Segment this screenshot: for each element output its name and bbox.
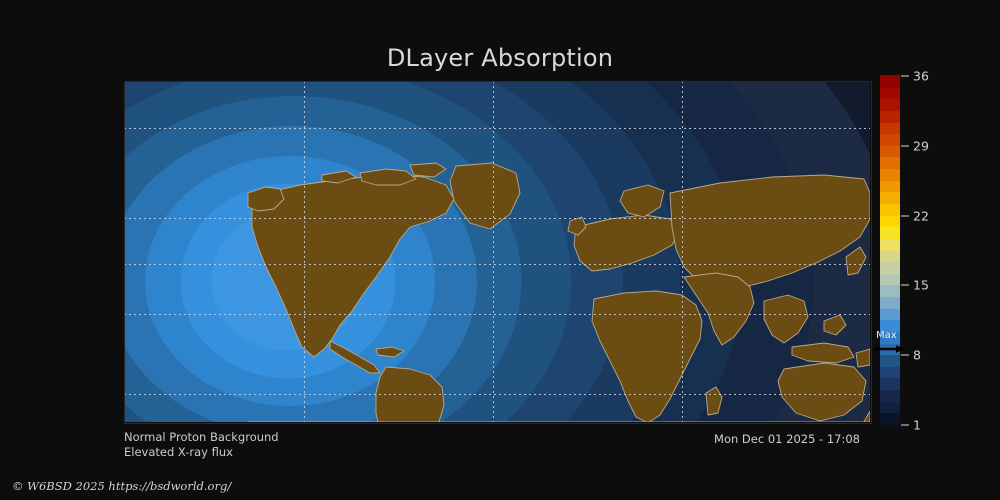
absorption-contours xyxy=(124,81,870,422)
colorbar-segment xyxy=(880,145,900,157)
colorbar-tick: 29 xyxy=(901,138,929,153)
colorbar-segment xyxy=(880,192,900,204)
colorbar-segment xyxy=(880,122,900,134)
colorbar-segment xyxy=(880,285,900,297)
colorbar-segment xyxy=(880,413,900,425)
tick-dash xyxy=(901,285,909,286)
page-title: DLayer Absorption xyxy=(0,44,1000,72)
max-marker: Max xyxy=(874,331,908,357)
gridline-vertical xyxy=(493,81,494,422)
colorbar-tick: 15 xyxy=(901,278,929,293)
colorbar-segment xyxy=(880,215,900,227)
colorbar-segment xyxy=(880,168,900,180)
colorbar-segment xyxy=(880,262,900,274)
colorbar-tick-label: 1 xyxy=(913,418,921,433)
colorbar-segment xyxy=(880,134,900,146)
colorbar-tick-label: 22 xyxy=(913,208,929,223)
colorbar-segment xyxy=(880,401,900,413)
proton-status-text: Normal Proton Background xyxy=(124,430,279,444)
colorbar-segment xyxy=(880,75,900,87)
colorbar-segment xyxy=(880,87,900,99)
world-map xyxy=(124,81,870,422)
colorbar-segment xyxy=(880,110,900,122)
arrow-right-icon xyxy=(874,345,906,353)
colorbar-segment xyxy=(880,238,900,250)
colorbar-axis-label: Affected Frequency (MHz) xyxy=(930,76,1000,425)
colorbar-segment xyxy=(880,366,900,378)
max-marker-label: Max xyxy=(876,331,897,341)
colorbar-tick: 1 xyxy=(901,418,921,433)
colorbar-tick-label: 8 xyxy=(913,348,921,363)
tick-dash xyxy=(901,145,909,146)
colorbar-tick: 22 xyxy=(901,208,929,223)
tick-dash xyxy=(901,215,909,216)
tick-dash xyxy=(901,76,909,77)
colorbar-segment xyxy=(880,390,900,402)
gridline-vertical xyxy=(682,81,683,422)
colorbar-segment xyxy=(880,99,900,111)
colorbar-segment xyxy=(880,227,900,239)
colorbar-tick-label: 36 xyxy=(913,69,929,84)
colorbar-segment xyxy=(880,250,900,262)
gridline-horizontal xyxy=(124,128,870,129)
tick-dash xyxy=(901,425,909,426)
gridline-vertical xyxy=(304,81,305,422)
gridline-horizontal xyxy=(124,218,870,219)
colorbar-segment xyxy=(880,308,900,320)
timestamp-text: Mon Dec 01 2025 - 17:08 xyxy=(714,432,860,446)
colorbar-segment xyxy=(880,180,900,192)
colorbar-segment xyxy=(880,296,900,308)
colorbar-tick-label: 29 xyxy=(913,138,929,153)
gridline-horizontal xyxy=(124,394,870,395)
gridline-horizontal xyxy=(124,314,870,315)
colorbar-tick: 36 xyxy=(901,69,929,84)
colorbar xyxy=(880,76,900,425)
colorbar-tick-label: 15 xyxy=(913,278,929,293)
colorbar-segment xyxy=(880,157,900,169)
colorbar-segment xyxy=(880,203,900,215)
gridline-horizontal xyxy=(124,264,870,265)
copyright-text: © W6BSD 2025 https://bsdworld.org/ xyxy=(12,479,231,493)
colorbar-segment xyxy=(880,273,900,285)
figure-canvas: DLayer Absorption xyxy=(0,0,1000,500)
xray-status-text: Elevated X-ray flux xyxy=(124,445,233,459)
colorbar-segment xyxy=(880,378,900,390)
colorbar-gradient xyxy=(880,76,900,425)
